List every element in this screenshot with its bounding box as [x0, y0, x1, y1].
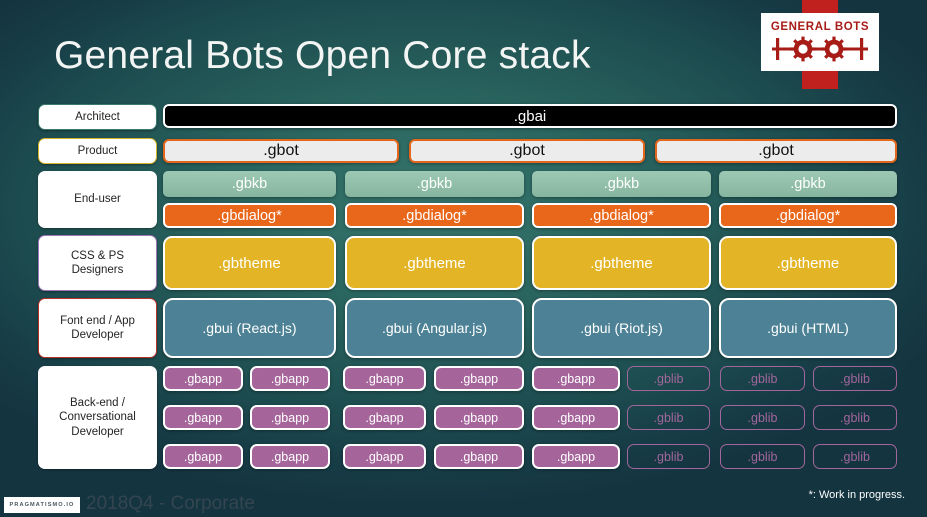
pragmatismo-logo: PRAGMATISMO.IO: [4, 497, 80, 513]
stack-cell-gbtheme[interactable]: .gbtheme: [532, 236, 711, 290]
stack-cell-gbdialog[interactable]: .gbdialog*: [719, 203, 897, 228]
stack-cell-gbapp[interactable]: .gbapp: [532, 405, 620, 430]
stack-cell-gbtheme[interactable]: .gbtheme: [345, 236, 524, 290]
stack-cell-gbkb[interactable]: .gbkb: [345, 171, 524, 197]
stack-cell-gbapp[interactable]: .gbapp: [434, 405, 524, 430]
stack-cell-gbapp[interactable]: .gbapp: [434, 444, 524, 469]
stack-cell-gbapp[interactable]: .gbapp: [250, 405, 330, 430]
stack-cell-gbot[interactable]: .gbot: [409, 139, 645, 163]
stack-cell-gbapp[interactable]: .gbapp: [343, 405, 426, 430]
stack-cell-gbapp[interactable]: .gbapp: [532, 366, 620, 391]
stack-cell-gbkb[interactable]: .gbkb: [163, 171, 336, 197]
stack-cell-gblib[interactable]: .gblib: [720, 444, 805, 469]
stack-cell-gblib[interactable]: .gblib: [720, 405, 805, 430]
row-label: Architect: [38, 104, 157, 130]
stack-cell-gbapp[interactable]: .gbapp: [532, 444, 620, 469]
stack-cell-gbui[interactable]: .gbui (Angular.js): [345, 298, 524, 358]
stack-cell-gbot[interactable]: .gbot: [655, 139, 897, 163]
stack-cell-gblib[interactable]: .gblib: [813, 405, 897, 430]
row-label: CSS & PS Designers: [38, 235, 157, 291]
stack-cell-gbapp[interactable]: .gbapp: [163, 366, 243, 391]
stack-cell-gbot[interactable]: .gbot: [163, 139, 399, 163]
stack-cell-gblib[interactable]: .gblib: [627, 405, 710, 430]
stack-cell-gbtheme[interactable]: .gbtheme: [719, 236, 897, 290]
stack-cell-gbapp[interactable]: .gbapp: [250, 444, 330, 469]
stack-cell-gblib[interactable]: .gblib: [813, 444, 897, 469]
stack-cell-gbapp[interactable]: .gbapp: [434, 366, 524, 391]
row-label: Font end / App Developer: [38, 298, 157, 358]
work-in-progress-note: *: Work in progress.: [809, 489, 905, 501]
stack-cell-gblib[interactable]: .gblib: [627, 444, 710, 469]
stack-cell-gbui[interactable]: .gbui (React.js): [163, 298, 336, 358]
slide-canvas: GENERAL BOTS: [0, 0, 927, 517]
pragmatismo-wordmark: PRAGMATISMO.IO: [9, 502, 74, 508]
stack-cell-gbdialog[interactable]: .gbdialog*: [532, 203, 711, 228]
row-label: Product: [38, 138, 157, 164]
stack-cell-gbui[interactable]: .gbui (HTML): [719, 298, 897, 358]
stack-cell-gbtheme[interactable]: .gbtheme: [163, 236, 336, 290]
stack-cell-gbapp[interactable]: .gbapp: [250, 366, 330, 391]
stack-cell-gblib[interactable]: .gblib: [813, 366, 897, 391]
stack-cell-gbapp[interactable]: .gbapp: [163, 405, 243, 430]
stack-diagram: ArchitectProductEnd-userCSS & PS Designe…: [0, 0, 927, 517]
stack-cell-gbai[interactable]: .gbai: [163, 104, 897, 128]
stack-cell-gbdialog[interactable]: .gbdialog*: [345, 203, 524, 228]
stack-cell-gbapp[interactable]: .gbapp: [343, 366, 426, 391]
stack-cell-gbkb[interactable]: .gbkb: [719, 171, 897, 197]
stack-cell-gblib[interactable]: .gblib: [627, 366, 710, 391]
stack-cell-gbkb[interactable]: .gbkb: [532, 171, 711, 197]
stack-cell-gbui[interactable]: .gbui (Riot.js): [532, 298, 711, 358]
stack-cell-gblib[interactable]: .gblib: [720, 366, 805, 391]
stack-cell-gbapp[interactable]: .gbapp: [343, 444, 426, 469]
row-label: End-user: [38, 171, 157, 228]
row-label: Back-end / Conversational Developer: [38, 366, 157, 469]
stack-cell-gbdialog[interactable]: .gbdialog*: [163, 203, 336, 228]
footer-date: 2018Q4 - Corporate: [86, 493, 255, 515]
stack-cell-gbapp[interactable]: .gbapp: [163, 444, 243, 469]
